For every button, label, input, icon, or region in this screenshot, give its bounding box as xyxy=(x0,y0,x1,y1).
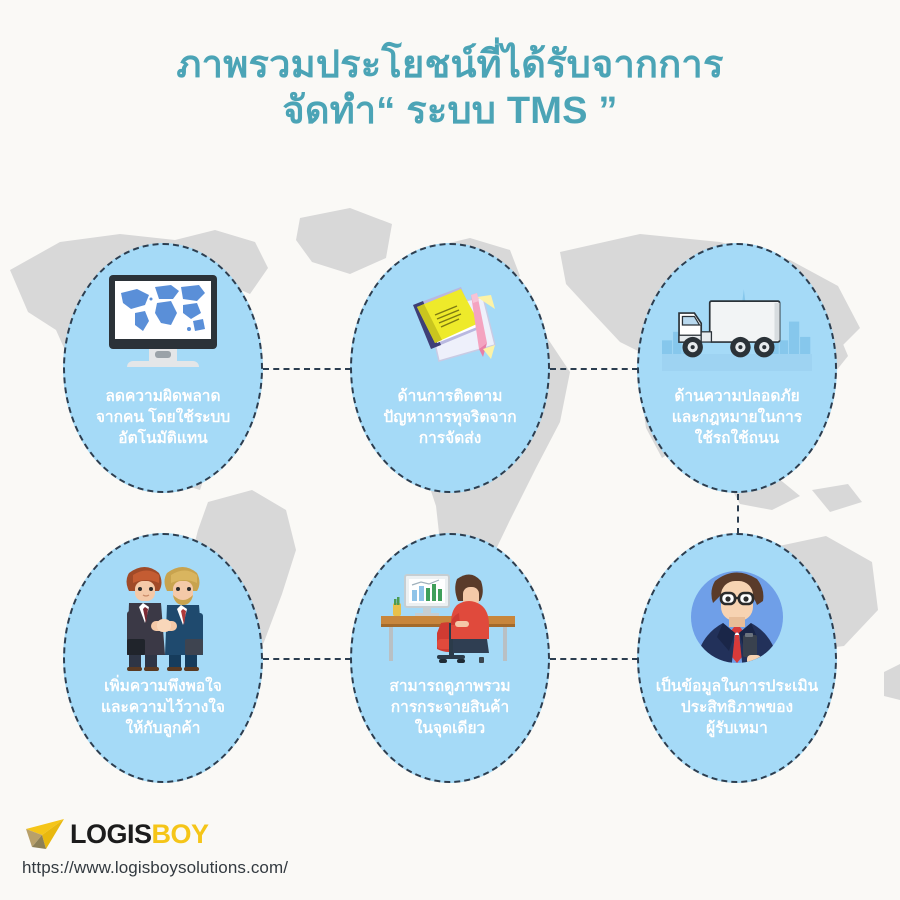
caption-line: อัตโนมัติแทน xyxy=(69,429,257,450)
caption-line: ด้านความปลอดภัย xyxy=(643,387,831,408)
brand-logo[interactable]: LOGISBOY xyxy=(22,817,288,851)
caption-line: ผู้รับเหมา xyxy=(643,719,831,740)
paper-plane-icon xyxy=(22,817,66,851)
caption-line: การจัดส่ง xyxy=(356,429,544,450)
logo-wordmark: LOGISBOY xyxy=(70,821,209,848)
benefit-node-1-caption: ลดความผิดพลาด จากคน โดยใช้ระบบ อัตโนมัติ… xyxy=(69,387,257,449)
caption-line: ด้านการติดตาม xyxy=(356,387,544,408)
caption-line: และความไว้วางใจ xyxy=(69,698,257,719)
benefit-node-3[interactable]: ด้านความปลอดภัย และกฎหมายในการ ใช้รถใช้ถ… xyxy=(637,243,837,493)
person-at-desk-icon xyxy=(375,559,525,671)
title-line-1: ภาพรวมประโยชน์ที่ได้รับจากการ xyxy=(0,42,900,88)
title-line-2: จัดทำ“ ระบบ TMS ” xyxy=(0,88,900,134)
connector-node5-node6 xyxy=(550,658,638,660)
benefit-node-4-caption: เพิ่มความพึงพอใจ และความไว้วางใจ ให้กับล… xyxy=(69,677,257,739)
benefit-node-5-caption: สามารถดูภาพรวม การกระจายสินค้า ในจุดเดีย… xyxy=(356,677,544,739)
desktop-world-map-icon xyxy=(88,269,238,381)
benefit-node-2[interactable]: ด้านการติดตาม ปัญหาการทุจริตจาก การจัดส่… xyxy=(350,243,550,493)
caption-line: เป็นข้อมูลในการประเมิน xyxy=(643,677,831,698)
connector-node1-node2 xyxy=(263,368,351,370)
caption-line: ให้กับลูกค้า xyxy=(69,719,257,740)
page-title: ภาพรวมประโยชน์ที่ได้รับจากการ จัดทำ“ ระบ… xyxy=(0,42,900,135)
delivery-truck-city-icon xyxy=(662,269,812,381)
connector-node2-node3 xyxy=(550,368,638,370)
logo-text-boy: BOY xyxy=(152,821,209,848)
connector-node4-node5 xyxy=(263,658,351,660)
caption-line: ปัญหาการทุจริตจาก xyxy=(356,408,544,429)
website-url[interactable]: https://www.logisboysolutions.com/ xyxy=(22,858,288,878)
caption-line: และกฎหมายในการ xyxy=(643,408,831,429)
caption-line: ลดความผิดพลาด xyxy=(69,387,257,408)
infographic-canvas: ภาพรวมประโยชน์ที่ได้รับจากการ จัดทำ“ ระบ… xyxy=(0,0,900,900)
benefit-node-1[interactable]: ลดความผิดพลาด จากคน โดยใช้ระบบ อัตโนมัติ… xyxy=(63,243,263,493)
caption-line: ประสิทธิภาพของ xyxy=(643,698,831,719)
benefit-node-4[interactable]: เพิ่มความพึงพอใจ และความไว้วางใจ ให้กับล… xyxy=(63,533,263,783)
benefit-node-6[interactable]: เป็นข้อมูลในการประเมิน ประสิทธิภาพของ ผู… xyxy=(637,533,837,783)
logo-text-logis: LOGIS xyxy=(70,821,152,848)
handshake-businessmen-icon xyxy=(88,559,238,671)
connector-node3-node6 xyxy=(737,494,739,534)
benefit-node-6-caption: เป็นข้อมูลในการประเมิน ประสิทธิภาพของ ผู… xyxy=(643,677,831,739)
caption-line: ในจุดเดียว xyxy=(356,719,544,740)
caption-line: การกระจายสินค้า xyxy=(356,698,544,719)
footer: LOGISBOY https://www.logisboysolutions.c… xyxy=(22,817,288,878)
caption-line: สามารถดูภาพรวม xyxy=(356,677,544,698)
benefit-node-5[interactable]: สามารถดูภาพรวม การกระจายสินค้า ในจุดเดีย… xyxy=(350,533,550,783)
notebooks-pen-icon xyxy=(375,269,525,381)
benefit-node-2-caption: ด้านการติดตาม ปัญหาการทุจริตจาก การจัดส่… xyxy=(356,387,544,449)
caption-line: เพิ่มความพึงพอใจ xyxy=(69,677,257,698)
businessman-avatar-icon xyxy=(662,559,812,671)
caption-line: จากคน โดยใช้ระบบ xyxy=(69,408,257,429)
benefit-node-3-caption: ด้านความปลอดภัย และกฎหมายในการ ใช้รถใช้ถ… xyxy=(643,387,831,449)
caption-line: ใช้รถใช้ถนน xyxy=(643,429,831,450)
